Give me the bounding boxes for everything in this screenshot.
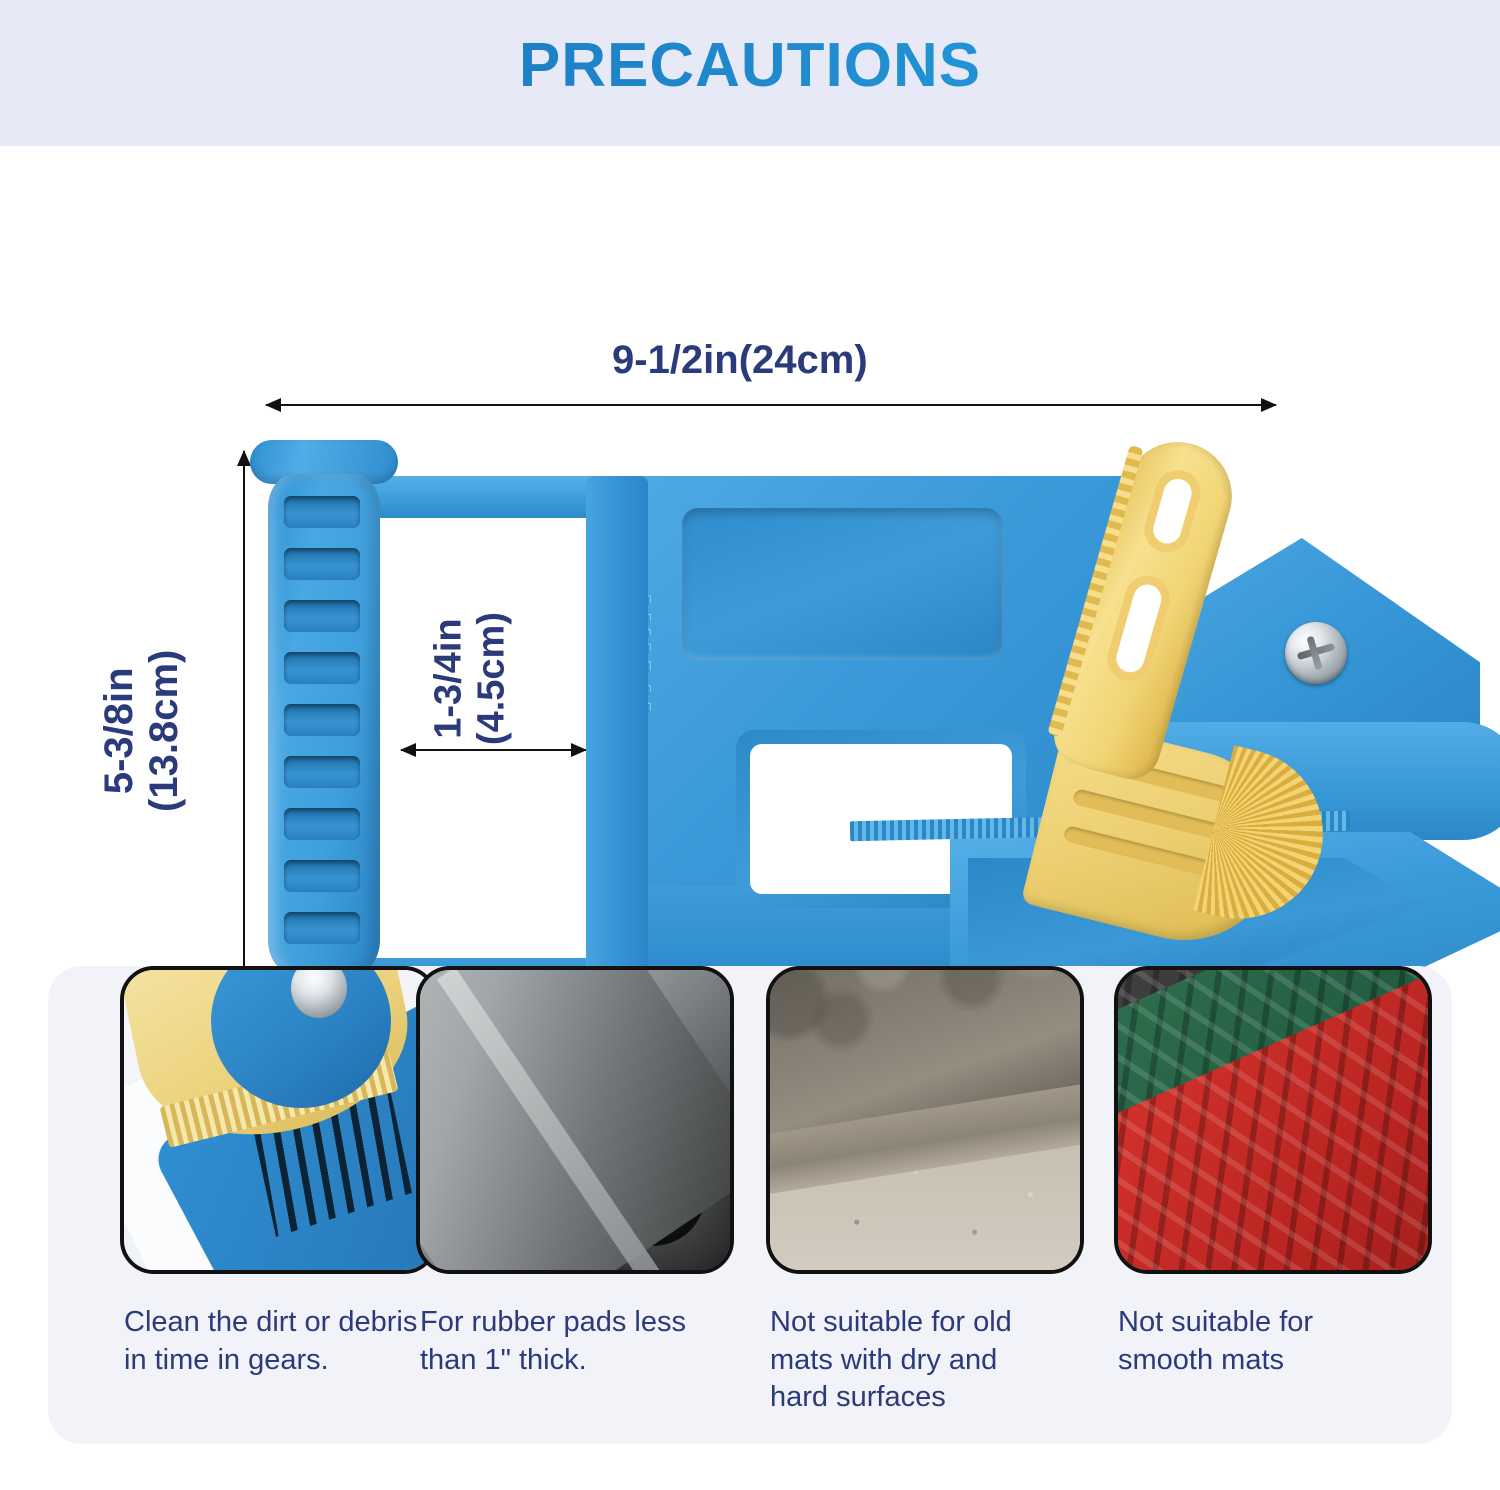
dimension-arrow-overall-length	[266, 404, 1276, 406]
product-diagram-section: 9-1/2in(24cm) 5-3/8in (13.8cm) 1-3/4in (…	[0, 146, 1500, 956]
header-banner: PRECAUTIONS	[0, 0, 1500, 146]
grip-slot	[284, 756, 360, 788]
precaution-cards: Clean the dirt or debris in time in gear…	[48, 966, 1452, 1444]
precaution-thumbnail-rubber	[416, 966, 734, 1274]
page-title: PRECAUTIONS	[0, 30, 1500, 101]
grip-slot	[284, 860, 360, 892]
dimension-label-overall-height-line2: (13.8cm)	[142, 581, 187, 881]
rubber-roll-image	[420, 970, 730, 1270]
precaution-caption: Not suitable for smooth mats	[1118, 1304, 1398, 1379]
dimension-label-overall-height: 5-3/8in (13.8cm)	[97, 581, 187, 881]
precaution-caption: Clean the dirt or debris in time in gear…	[124, 1304, 424, 1379]
precaution-caption: For rubber pads less than 1" thick.	[420, 1304, 710, 1379]
tool-handle-grip	[268, 474, 380, 974]
old-mat-image	[770, 970, 1080, 1270]
precaution-thumbnail-gears	[120, 966, 438, 1274]
lever-hole	[1102, 570, 1176, 686]
product-illustration: INMI ®	[250, 426, 1310, 1046]
precaution-caption: Not suitable for old mats with dry and h…	[770, 1304, 1060, 1417]
grip-slot	[284, 912, 360, 944]
tool-beam-riser	[586, 476, 648, 1000]
precaution-thumbnail-old-mat	[766, 966, 1084, 1274]
diamond-plate-image	[1118, 970, 1428, 1270]
grip-slot	[284, 704, 360, 736]
grip-slot	[284, 496, 360, 528]
gear-closeup-image	[124, 970, 434, 1270]
lever-hole	[1139, 464, 1206, 557]
dimension-label-overall-length: 9-1/2in(24cm)	[612, 338, 868, 383]
precaution-thumbnail-diamond-plate	[1114, 966, 1432, 1274]
grip-slot	[284, 600, 360, 632]
pivot-screw-icon	[1285, 622, 1347, 684]
tool-body-recess	[682, 508, 1002, 660]
precaution-card-old-mats: Not suitable for old mats with dry and h…	[764, 966, 1094, 1444]
precaution-card-gears-clean: Clean the dirt or debris in time in gear…	[48, 966, 378, 1444]
precaution-card-rubber-thickness: For rubber pads less than 1" thick.	[406, 966, 736, 1444]
dimension-label-overall-height-line1: 5-3/8in	[97, 581, 142, 881]
dimension-arrow-overall-height	[243, 451, 245, 1036]
grip-slot	[284, 548, 360, 580]
grip-slot	[284, 652, 360, 684]
precaution-card-smooth-mats: Not suitable for smooth mats	[1122, 966, 1452, 1444]
grip-slot	[284, 808, 360, 840]
